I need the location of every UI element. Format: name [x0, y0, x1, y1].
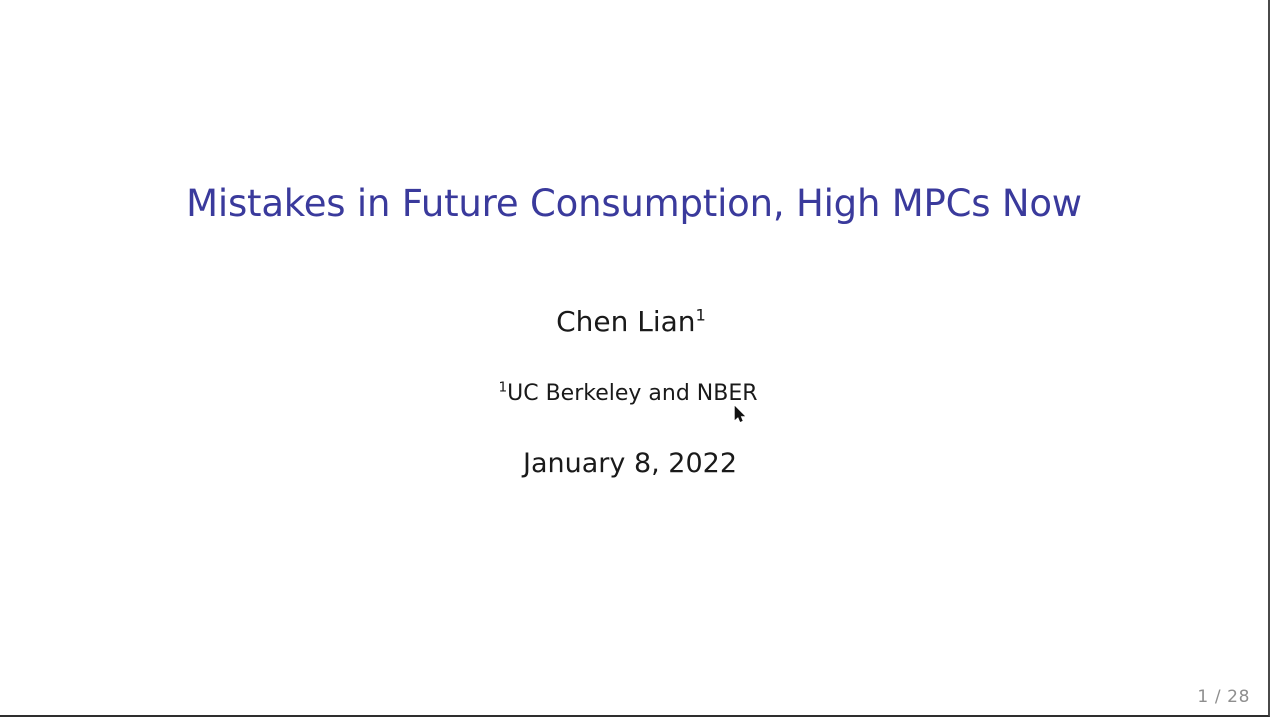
title-block: Mistakes in Future Consumption, High MPC…: [0, 183, 1268, 224]
slide-date: January 8, 2022: [523, 448, 745, 480]
author-block: Chen Lian1: [0, 305, 1268, 339]
affiliation-line: 1UC Berkeley and NBER: [498, 381, 769, 407]
affiliation-marker: 1: [498, 380, 507, 396]
slide-page: Mistakes in Future Consumption, High MPC…: [0, 0, 1270, 717]
page-indicator: 1 / 28: [1197, 687, 1250, 707]
affiliation-block: 1UC Berkeley and NBER: [0, 381, 1268, 407]
date-block: January 8, 2022: [0, 448, 1268, 480]
page-title: Mistakes in Future Consumption, High MPC…: [186, 183, 1082, 224]
pdf-viewer-window: Mistakes in Future Consumption, High MPC…: [0, 0, 1280, 720]
author-affiliation-marker: 1: [696, 306, 706, 325]
author-name-text: Chen Lian: [556, 305, 695, 338]
affiliation-institution: UC Berkeley and NBER: [507, 381, 757, 406]
author-name: Chen Lian1: [556, 305, 712, 339]
